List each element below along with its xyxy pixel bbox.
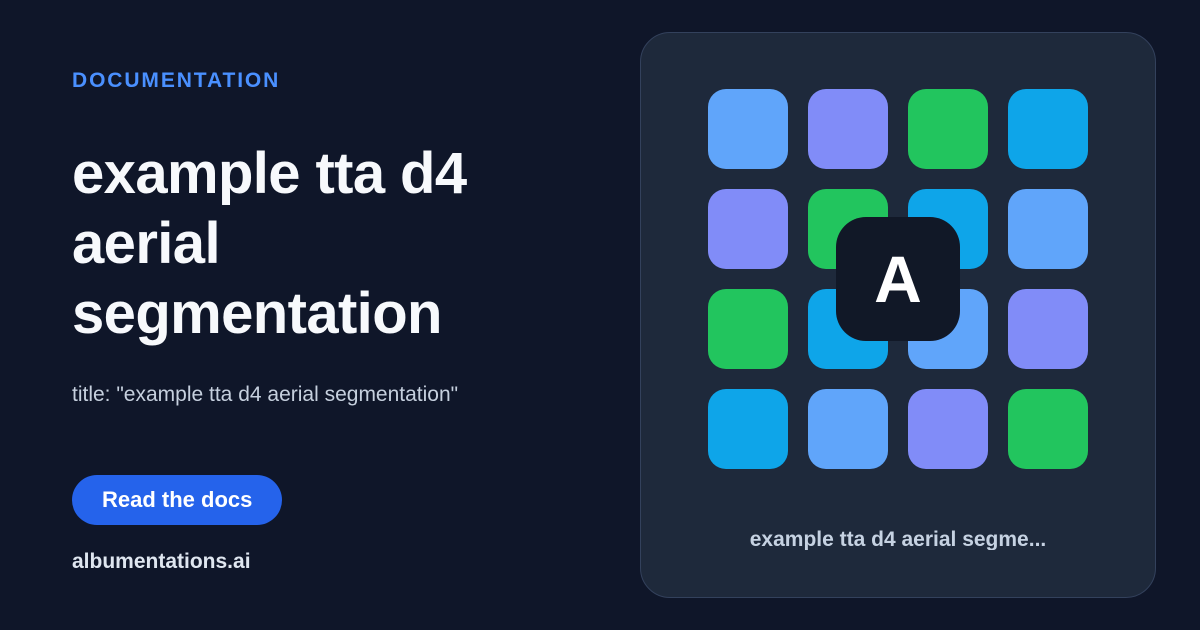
grid-tile [1008,289,1088,369]
right-preview-column: A example tta d4 aerial segme... [640,0,1200,630]
read-the-docs-button[interactable]: Read the docs [72,475,282,525]
grid-tile [708,289,788,369]
grid-tile [708,89,788,169]
grid-tile [808,389,888,469]
preview-card: A example tta d4 aerial segme... [640,32,1156,598]
page-title: example tta d4 aerial segmentation [72,139,502,349]
site-url-label: albumentations.ai [72,551,251,572]
grid-tile [708,389,788,469]
logo-badge-letter: A [874,246,922,312]
grid-tile [908,89,988,169]
tile-grid: A [708,89,1088,469]
grid-tile [1008,389,1088,469]
grid-tile [1008,89,1088,169]
grid-tile [908,389,988,469]
grid-tile [808,89,888,169]
left-content-column: DOCUMENTATION example tta d4 aerial segm… [0,0,640,630]
logo-badge: A [836,217,960,341]
page-subtitle: title: "example tta d4 aerial segmentati… [72,381,458,409]
grid-tile [1008,189,1088,269]
grid-tile [708,189,788,269]
og-card-root: DOCUMENTATION example tta d4 aerial segm… [0,0,1200,630]
cta-container: Read the docs [72,475,282,525]
eyebrow-label: DOCUMENTATION [72,70,280,91]
card-caption: example tta d4 aerial segme... [750,529,1046,550]
